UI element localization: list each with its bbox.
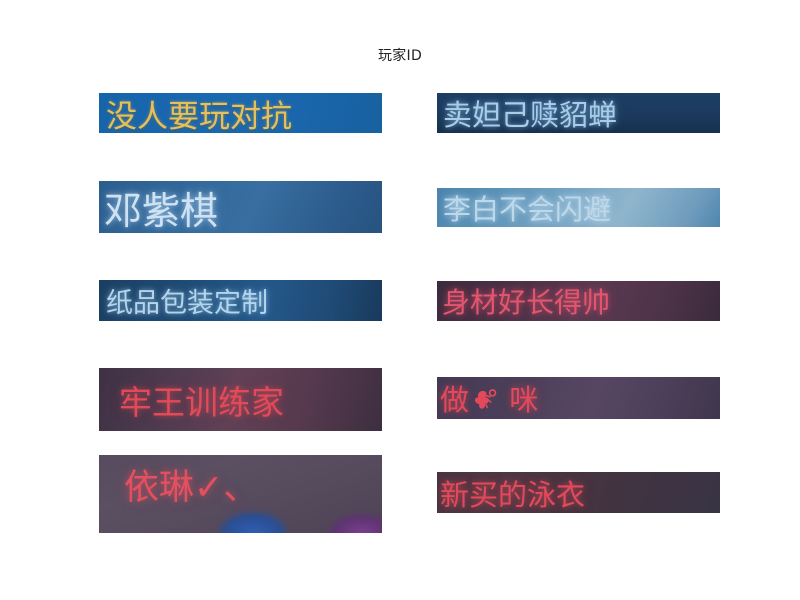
player-id-banner-5-right[interactable]: 新买的泳衣 <box>437 472 720 513</box>
player-id-text: 纸品包装定制 <box>99 281 268 320</box>
player-id-banner-4-right[interactable]: 做 咪 <box>437 377 720 419</box>
player-id-text: 牢王训练家 <box>99 376 284 424</box>
player-id-text: 依琳✓、 <box>99 459 258 510</box>
player-id-banner-1-left[interactable]: 没人要玩对抗 <box>99 93 382 133</box>
player-id-text: 身材好长得帅 <box>437 281 610 321</box>
player-id-banner-3-right[interactable]: 身材好长得帅 <box>437 281 720 321</box>
flower-emoji-icon <box>471 386 499 414</box>
player-id-banner-2-right[interactable]: 李白不会闪避 <box>437 188 720 227</box>
player-id-text-wrap: 依琳✓、 <box>99 455 382 533</box>
player-id-text: 卖妲己赎貂蝉 <box>437 93 617 133</box>
player-id-text: 做 咪 <box>437 377 538 419</box>
player-id-banner-1-right[interactable]: 卖妲己赎貂蝉 <box>437 93 720 133</box>
player-id-banner-3-left[interactable]: 纸品包装定制 <box>99 280 382 321</box>
player-id-text: 没人要玩对抗 <box>99 93 292 133</box>
player-id-text-suffix: 咪 <box>500 383 538 417</box>
player-id-banner-grid: 没人要玩对抗 卖妲己赎貂蝉 邓紫棋 李白不会闪避 纸品包装定制 身材好长得帅 牢… <box>0 0 800 600</box>
player-id-text: 新买的泳衣 <box>437 472 585 513</box>
player-id-text-prefix: 做 <box>440 383 469 417</box>
player-id-banner-5-left[interactable]: 依琳✓、 <box>99 455 382 533</box>
player-id-text: 邓紫棋 <box>99 181 218 233</box>
player-id-banner-4-left[interactable]: 牢王训练家 <box>99 368 382 431</box>
player-id-banner-2-left[interactable]: 邓紫棋 <box>99 181 382 233</box>
player-id-text: 李白不会闪避 <box>437 188 611 227</box>
